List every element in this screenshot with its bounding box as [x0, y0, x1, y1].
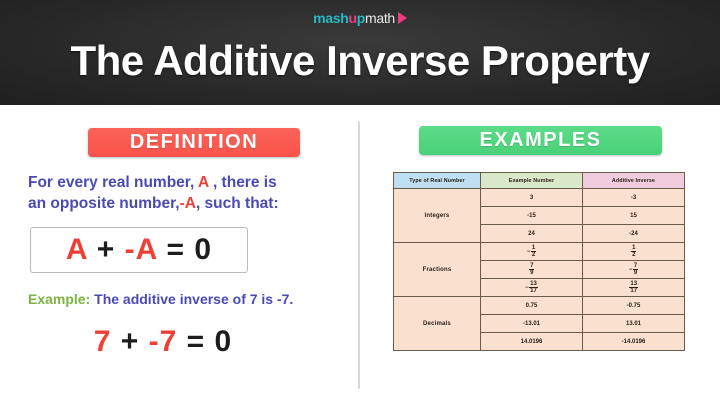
fraction-denominator: 9 [633, 270, 638, 276]
definition-line2-part2: , such that: [196, 195, 279, 212]
table-row: Decimals 0.75 -0.75 [394, 297, 685, 315]
example-sentence: Example: The additive inverse of 7 is -7… [28, 290, 348, 308]
example-term-2: -7 [149, 325, 178, 358]
fraction-denominator: 2 [631, 252, 636, 258]
fraction-denominator: 2 [531, 252, 536, 258]
example-value: −12 [481, 243, 583, 261]
inverse-value: -24 [583, 225, 685, 243]
definition-variable-a: A [198, 174, 209, 191]
formula-term-2: -A [125, 233, 158, 266]
fraction: 1317 [629, 281, 638, 295]
column-header-inverse: Additive Inverse [583, 173, 685, 189]
definition-formula-box: A + -A = 0 [30, 227, 248, 273]
fraction-numerator: 13 [529, 281, 538, 288]
formula-result: 0 [194, 233, 212, 266]
fraction: 12 [531, 245, 536, 259]
example-value: 24 [481, 225, 583, 243]
example-value: 3 [481, 189, 583, 207]
example-equals: = [177, 325, 214, 358]
fraction-numerator: 7 [633, 263, 638, 270]
fraction-denominator: 9 [529, 270, 534, 276]
example-value: 14.0196 [481, 333, 583, 351]
example-term-1: 7 [94, 325, 112, 358]
inverse-value: 15 [583, 207, 685, 225]
inverse-value: −79 [583, 261, 685, 279]
fraction: 79 [633, 263, 638, 277]
category-cell-integers: Integers [394, 189, 481, 243]
fraction-numerator: 7 [529, 263, 534, 270]
example-value: -13.01 [481, 315, 583, 333]
examples-table: Type of Real Number Example Number Addit… [393, 172, 685, 351]
fraction-denominator: 17 [629, 288, 638, 294]
header-bar: mashupmath The Additive Inverse Property [0, 0, 720, 105]
fraction-numerator: 1 [631, 245, 636, 252]
examples-banner: EXAMPLES [419, 126, 662, 155]
formula-equals: = [157, 233, 194, 266]
example-value: 0.75 [481, 297, 583, 315]
column-header-type: Type of Real Number [394, 173, 481, 189]
inverse-value: 1317 [583, 279, 685, 297]
category-cell-decimals: Decimals [394, 297, 481, 351]
fraction-sign: − [525, 285, 529, 291]
logo-text-math: math [365, 10, 395, 26]
mashup-math-logo: mashupmath [0, 11, 720, 25]
definition-variable-neg-a: -A [180, 195, 196, 212]
table-row: Fractions −12 12 [394, 243, 685, 261]
play-triangle-icon [398, 12, 407, 24]
fraction-sign: − [527, 249, 531, 255]
example-result: 0 [215, 325, 233, 358]
column-divider [358, 121, 360, 389]
fraction: 79 [529, 263, 534, 277]
table-header-row: Type of Real Number Example Number Addit… [394, 173, 685, 189]
fraction-sign: − [629, 267, 633, 273]
fraction-numerator: 13 [629, 281, 638, 288]
definition-banner: DEFINITION [88, 128, 300, 157]
inverse-value: -0.75 [583, 297, 685, 315]
example-operator: + [111, 325, 148, 358]
formula-operator: + [87, 233, 124, 266]
definition-line1-part2: , there is [209, 174, 277, 191]
example-value: −1317 [481, 279, 583, 297]
category-cell-fractions: Fractions [394, 243, 481, 297]
formula-term-1: A [66, 233, 88, 266]
column-header-example: Example Number [481, 173, 583, 189]
logo-text-p: p [357, 10, 365, 26]
example-sentence-text: The additive inverse of 7 is -7. [90, 291, 293, 307]
fraction: 12 [631, 245, 636, 259]
page-title: The Additive Inverse Property [0, 36, 720, 86]
table-row: Integers 3 -3 [394, 189, 685, 207]
fraction-denominator: 17 [529, 288, 538, 294]
definition-line2-part1: an opposite number, [28, 195, 180, 212]
inverse-value: 13.01 [583, 315, 685, 333]
fraction-numerator: 1 [531, 245, 536, 252]
table-body: Integers 3 -3 -15 15 24 -24 Fractions −1… [394, 189, 685, 351]
definition-line1-part1: For every real number, [28, 174, 198, 191]
logo-text-mash: mash [313, 10, 348, 26]
inverse-value: -3 [583, 189, 685, 207]
example-label: Example: [28, 291, 90, 307]
infographic-page: mashupmath The Additive Inverse Property… [0, 0, 720, 404]
content-area: DEFINITION For every real number, A , th… [0, 105, 720, 404]
example-formula: 7 + -7 = 0 [48, 320, 278, 369]
logo-text-u: u [348, 10, 356, 26]
inverse-value: 12 [583, 243, 685, 261]
example-value: 79 [481, 261, 583, 279]
fraction: 1317 [529, 281, 538, 295]
definition-statement: For every real number, A , there is an o… [28, 172, 338, 214]
example-value: -15 [481, 207, 583, 225]
inverse-value: -14.0196 [583, 333, 685, 351]
table-header: Type of Real Number Example Number Addit… [394, 173, 685, 189]
